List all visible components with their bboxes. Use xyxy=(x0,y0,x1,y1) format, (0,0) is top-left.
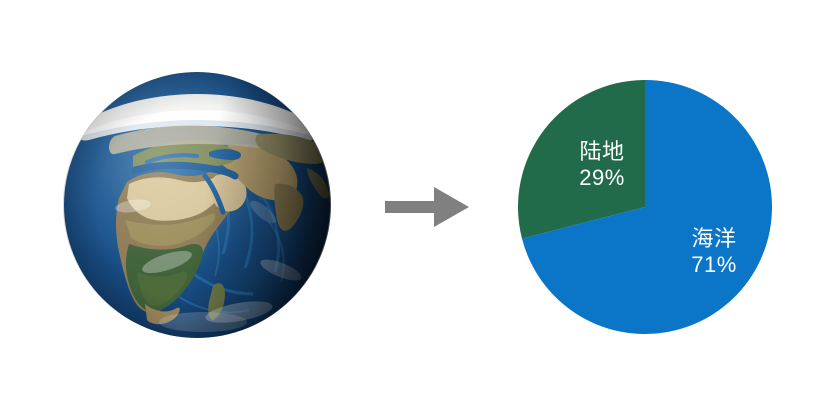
pie-chart: 陆地 29% 海洋 71% xyxy=(518,80,772,334)
earth-globe-image xyxy=(63,72,331,338)
right-arrow-icon xyxy=(385,185,469,229)
earth-globe xyxy=(63,72,331,338)
figure-canvas: 陆地 29% 海洋 71% xyxy=(0,0,829,404)
